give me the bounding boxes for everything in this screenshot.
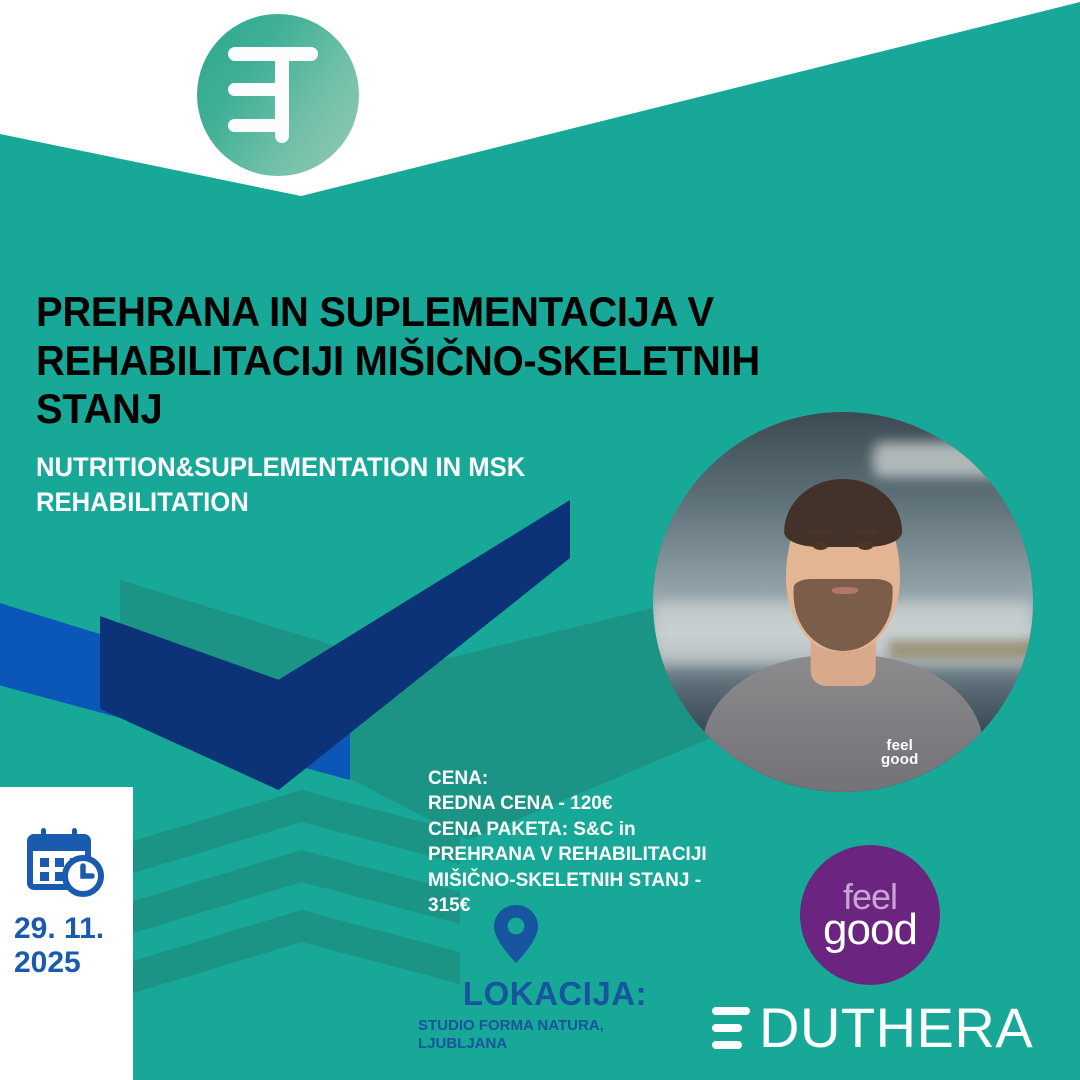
logo-t-stem bbox=[275, 47, 289, 143]
title-block: PREHRANA IN SUPLEMENTACIJA V REHABILITAC… bbox=[36, 288, 876, 519]
calendar-clock-icon bbox=[26, 827, 106, 904]
location-block: LOKACIJA: STUDIO FORMA NATURA, LJUBLJANA bbox=[400, 975, 710, 1053]
address-line-2: LJUBLJANA bbox=[418, 1035, 710, 1053]
location-address: STUDIO FORMA NATURA, LJUBLJANA bbox=[400, 1017, 710, 1053]
header-banner bbox=[0, 0, 1080, 200]
eduthera-logo-icon bbox=[197, 14, 359, 176]
shirt-logo: feel good bbox=[881, 739, 918, 768]
date-line-1: 29. 11. bbox=[14, 912, 129, 946]
portrait-eyebrow-left bbox=[807, 530, 832, 535]
eduthera-wordmark: DUTHERA bbox=[712, 995, 1033, 1060]
e-bar-bottom bbox=[712, 1041, 742, 1049]
promotional-poster: PREHRANA IN SUPLEMENTACIJA V REHABILITAC… bbox=[0, 0, 1080, 1080]
price-regular: REDNA CENA - 120€ bbox=[428, 791, 728, 816]
title-line-2: REHABILITACIJI MIŠIČNO-SKELETNIH bbox=[36, 337, 834, 386]
event-date: 29. 11. 2025 bbox=[14, 912, 129, 979]
price-package-line-1: CENA PAKETA: S&C in bbox=[428, 817, 728, 842]
eduthera-e-glyph-icon bbox=[712, 1007, 750, 1049]
price-heading: CENA: bbox=[428, 766, 728, 791]
shirt-logo-bottom: good bbox=[881, 753, 918, 767]
e-bar-middle bbox=[712, 1024, 742, 1032]
price-block: CENA: REDNA CENA - 120€ CENA PAKETA: S&C… bbox=[428, 766, 728, 919]
logo-bar-top bbox=[228, 47, 318, 61]
location-label: LOKACIJA: bbox=[400, 975, 710, 1013]
price-package-line-4: 315€ bbox=[428, 893, 728, 918]
date-line-2: 2025 bbox=[14, 946, 129, 980]
title-line-1: PREHRANA IN SUPLEMENTACIJA V bbox=[36, 288, 834, 337]
feelgood-logo: feel good bbox=[800, 845, 940, 985]
portrait-eye-right bbox=[858, 541, 873, 549]
feelgood-logo-bottom: good bbox=[823, 912, 917, 948]
price-package-line-3: MIŠIČNO-SKELETNIH STANJ - bbox=[428, 868, 728, 893]
logo-bar-bottom bbox=[228, 119, 282, 132]
portrait-eye-left bbox=[813, 541, 828, 549]
location-pin-icon bbox=[494, 905, 538, 968]
address-line-1: STUDIO FORMA NATURA, bbox=[418, 1017, 710, 1035]
subtitle-line-2: REHABILITATION bbox=[36, 485, 834, 520]
logo-bar-middle bbox=[228, 83, 282, 96]
portrait-background-rail bbox=[889, 640, 1033, 659]
subtitle-line-1: NUTRITION&SUPLEMENTATION IN MSK bbox=[36, 450, 834, 485]
e-bar-top bbox=[712, 1007, 750, 1015]
page-subtitle: NUTRITION&SUPLEMENTATION IN MSK REHABILI… bbox=[36, 450, 834, 519]
eduthera-wordmark-text: DUTHERA bbox=[759, 995, 1033, 1060]
date-panel: 29. 11. 2025 bbox=[0, 787, 133, 1080]
portrait-mouth bbox=[832, 587, 859, 594]
page-title: PREHRANA IN SUPLEMENTACIJA V REHABILITAC… bbox=[36, 288, 834, 434]
portrait-eyebrow-right bbox=[854, 530, 879, 535]
portrait-background-light bbox=[873, 442, 1002, 476]
title-line-3: STANJ bbox=[36, 385, 834, 434]
price-package-line-2: PREHRANA V REHABILITACIJI bbox=[428, 842, 728, 867]
